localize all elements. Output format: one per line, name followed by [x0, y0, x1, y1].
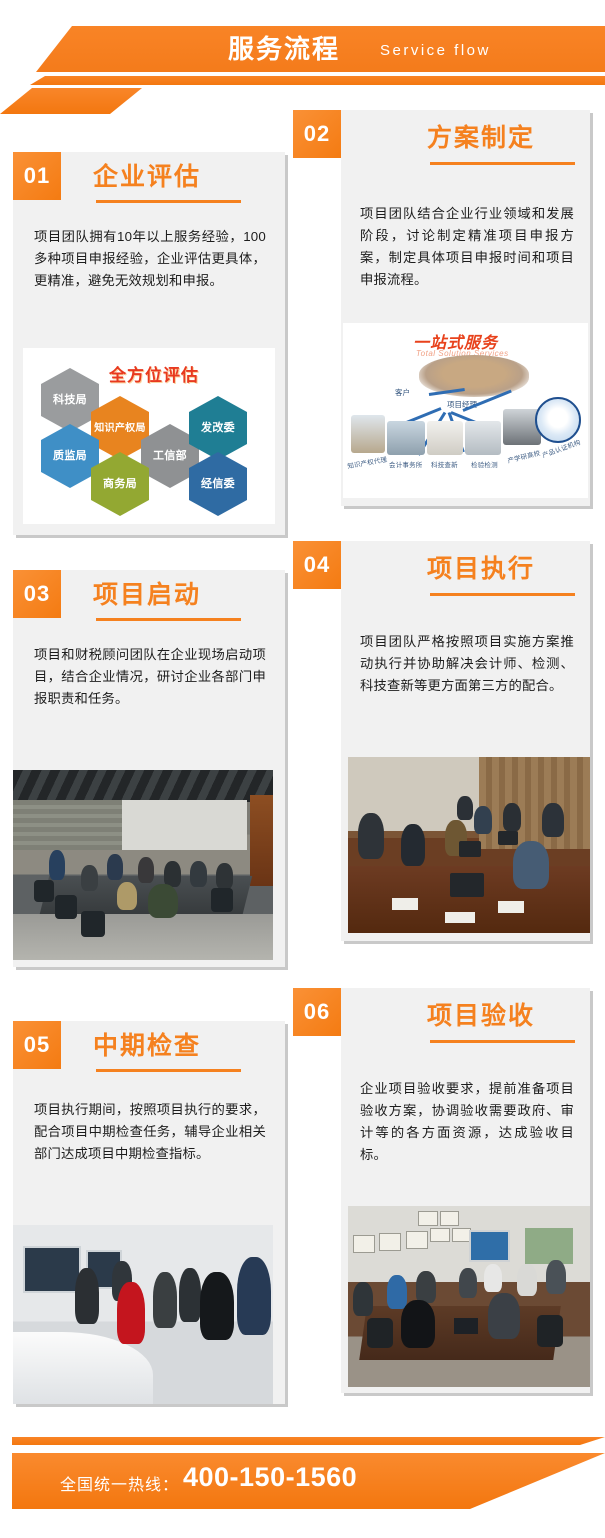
- photo-chair: [537, 1315, 563, 1347]
- card-02-number-badge: 02: [293, 110, 341, 158]
- photo-left-wall: [13, 800, 122, 849]
- photo-paper: [445, 912, 475, 923]
- photo-ceiling: [13, 770, 273, 802]
- card-01-title: 企业评估: [93, 162, 201, 192]
- photo-person: [216, 863, 233, 889]
- photo-chair: [34, 880, 54, 902]
- photo-paper: [498, 901, 524, 913]
- card-03-number-badge: 03: [13, 570, 61, 618]
- header-accent-stripe: [0, 76, 605, 85]
- photo-person: [542, 803, 564, 837]
- page-header: 服务流程 Service flow: [0, 0, 605, 110]
- photo-person: [190, 861, 207, 887]
- one-stop-label-client: 客户: [395, 387, 410, 398]
- photo-person: [474, 806, 492, 834]
- photo-whiteboard: [525, 1228, 573, 1264]
- hexagon-assessment-diagram: 全方位评估 科技局 知识产权局 质监局 工信部 商务局 发改委 经信委: [23, 348, 275, 524]
- card-06-body: 企业项目验收要求，提前准备项目验收方案，协调验收需要政府、审计等的各方面资源，达…: [360, 1078, 574, 1166]
- photo-person: [200, 1272, 234, 1340]
- working-session-photo: [348, 757, 590, 933]
- card-05-title-rule: [96, 1069, 241, 1072]
- card-05-number-badge: 05: [13, 1021, 61, 1069]
- photo-projector-screen: [469, 1230, 510, 1263]
- card-04: 04 项目执行 项目团队严格按照项目实施方案推动执行并协助解决会计师、检测、科技…: [293, 541, 590, 941]
- hex-node-zhijianju: 质监局: [41, 424, 99, 488]
- photo-person: [513, 841, 549, 889]
- page-title: 服务流程: [228, 31, 340, 67]
- photo-person: [358, 813, 384, 859]
- photo-person: [138, 857, 154, 883]
- photo-person: [81, 865, 98, 891]
- photo-person: [387, 1275, 407, 1309]
- photo-person: [517, 1264, 537, 1296]
- card-04-body: 项目团队严格按照项目实施方案推动执行并协助解决会计师、检测、科技查新等更方面第三…: [360, 631, 574, 697]
- photo-person: [546, 1260, 566, 1294]
- page-subtitle: Service flow: [380, 40, 491, 62]
- photo-person: [75, 1268, 99, 1324]
- photo-certificate-frame: [430, 1228, 449, 1242]
- card-02-title-rule: [430, 162, 575, 165]
- photo-person: [49, 850, 65, 880]
- card-06-title-rule: [430, 1040, 575, 1043]
- photo-certificate-frame: [353, 1235, 375, 1253]
- card-04-number-badge: 04: [293, 541, 341, 589]
- one-stop-label-testing: 检验检测: [471, 459, 498, 469]
- hex-node-zhishichanquanju: 知识产权局: [91, 396, 149, 460]
- photo-person: [117, 882, 137, 910]
- one-stop-label-search: 科技查新: [431, 459, 458, 469]
- photo-wood-panel: [250, 795, 273, 886]
- one-stop-node-testing: [465, 421, 501, 455]
- one-stop-hero-photo: [419, 355, 529, 397]
- photo-chair: [367, 1318, 393, 1348]
- photo-chair: [81, 911, 105, 937]
- card-03-body: 项目和财税顾问团队在企业现场启动项目，结合企业情况，研讨企业各部门申报职责和任务…: [34, 644, 266, 710]
- one-stop-label-ip: 知识产权代理: [346, 454, 387, 471]
- photo-right-wall: [122, 800, 247, 849]
- card-06-number-badge: 06: [293, 988, 341, 1036]
- photo-person: [503, 803, 521, 831]
- photo-person: [459, 1268, 477, 1298]
- photo-person: [148, 884, 178, 918]
- one-stop-node-ip: [351, 415, 385, 453]
- photo-person: [401, 1300, 435, 1348]
- photo-certificate-frame: [379, 1233, 401, 1251]
- card-01: 01 企业评估 项目团队拥有10年以上服务经验，100多种项目申报经验，企业评估…: [13, 152, 285, 535]
- photo-paper: [392, 898, 418, 910]
- photo-curtain: [479, 757, 590, 849]
- photo-laptop: [454, 1318, 478, 1334]
- card-04-title-rule: [430, 593, 575, 596]
- photo-person: [488, 1293, 520, 1339]
- photo-laptop: [450, 873, 484, 897]
- card-05-body: 项目执行期间，按照项目执行的要求，配合项目中期检查任务，辅导企业相关部门达成项目…: [34, 1099, 266, 1165]
- photo-chair: [211, 888, 233, 912]
- footer-accent-stripe: [12, 1437, 605, 1445]
- card-01-body: 项目团队拥有10年以上服务经验，100多种项目申报经验，企业评估更具体，更精准，…: [34, 226, 266, 292]
- infographic-page: 服务流程 Service flow 01 企业评估 项目团队拥有10年以上服务经…: [0, 0, 605, 1538]
- hex-node-kejiju: 科技局: [41, 368, 99, 432]
- one-stop-label-university: 产学研高校: [506, 447, 541, 465]
- photo-person: [153, 1272, 177, 1328]
- photo-certificate-frame: [406, 1231, 428, 1249]
- card-05-title: 中期检查: [93, 1031, 201, 1061]
- photo-display-screen: [23, 1246, 80, 1293]
- hexagon-diagram-title: 全方位评估: [109, 361, 199, 386]
- photo-person: [484, 1264, 502, 1292]
- one-stop-certification-seal: [535, 397, 581, 443]
- one-stop-label-accounting: 会计事务所: [389, 459, 423, 469]
- hotline-label: 全国统一热线：: [60, 1471, 179, 1495]
- photo-person: [237, 1257, 271, 1335]
- photo-certificate-frame: [440, 1211, 459, 1225]
- card-02: 02 方案制定 项目团队结合企业行业领域和发展阶段，讨论制定精准项目申报方案，制…: [293, 110, 590, 506]
- photo-person: [179, 1268, 201, 1322]
- photo-floor: [13, 914, 273, 960]
- photo-person: [457, 796, 473, 820]
- photo-person: [401, 824, 425, 866]
- one-stop-node-search: [427, 421, 463, 455]
- one-stop-service-diagram: 一站式服务 Total Solution Services 客户 项目经理 知识…: [343, 323, 588, 498]
- photo-laptop: [498, 831, 518, 845]
- card-06: 06 项目验收 企业项目验收要求，提前准备项目验收方案，协调验收需要政府、审计等…: [293, 988, 590, 1393]
- photo-certificate-frame: [418, 1211, 437, 1225]
- card-03-title: 项目启动: [93, 580, 201, 610]
- meeting-room-photo: [13, 770, 273, 960]
- photo-chair: [55, 895, 77, 919]
- card-02-title: 方案制定: [427, 123, 535, 153]
- photo-person: [353, 1282, 373, 1316]
- hotline-number[interactable]: 400-150-1560: [183, 1462, 357, 1493]
- card-04-title: 项目执行: [427, 554, 535, 584]
- card-06-title: 项目验收: [427, 1001, 535, 1031]
- hex-node-shangwuju: 商务局: [91, 452, 149, 516]
- card-03-title-rule: [96, 618, 241, 621]
- site-visit-photo: [13, 1225, 273, 1404]
- one-stop-node-accounting: [387, 421, 425, 455]
- card-03: 03 项目启动 项目和财税顾问团队在企业现场启动项目，结合企业情况，研讨企业各部…: [13, 570, 285, 967]
- photo-person-red-coat: [117, 1282, 145, 1344]
- card-01-number-badge: 01: [13, 152, 61, 200]
- card-02-body: 项目团队结合企业行业领域和发展阶段，讨论制定精准项目申报方案，制定具体项目申报时…: [360, 203, 574, 291]
- photo-laptop: [459, 841, 481, 857]
- conference-photo: [348, 1206, 590, 1387]
- photo-person: [107, 854, 123, 880]
- photo-person: [416, 1271, 436, 1303]
- card-05: 05 中期检查 项目执行期间，按照项目执行的要求，配合项目中期检查任务，辅导企业…: [13, 1021, 285, 1404]
- card-01-title-rule: [96, 200, 241, 203]
